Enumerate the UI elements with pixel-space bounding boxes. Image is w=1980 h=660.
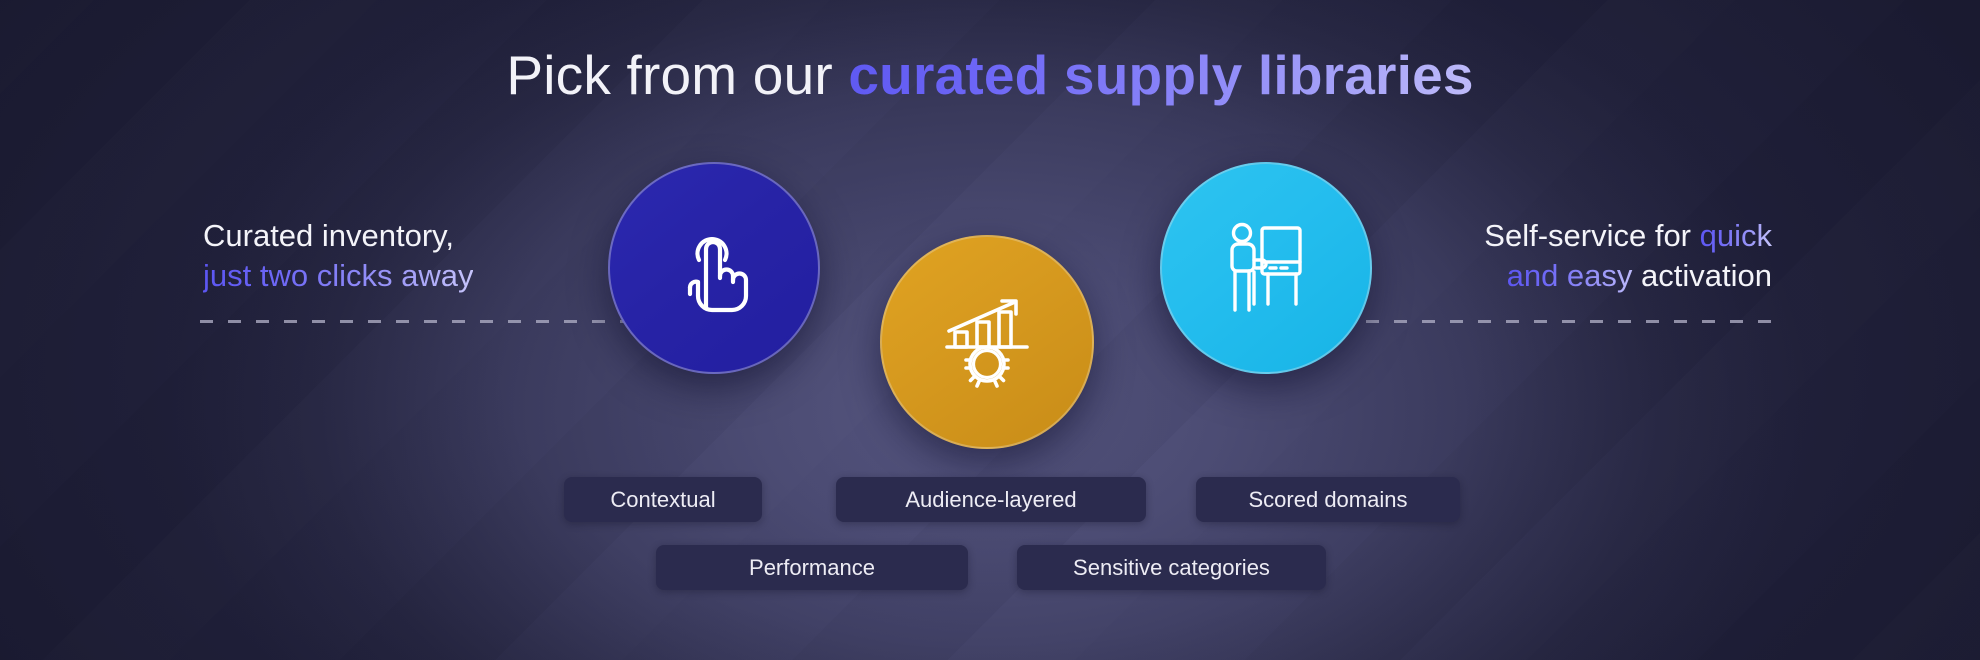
page-title: Pick from our curated supply libraries xyxy=(0,42,1980,108)
self-service-kiosk-icon xyxy=(1218,220,1314,316)
dashed-connector-right xyxy=(1310,320,1780,323)
dashed-connector-left xyxy=(200,320,670,323)
tag-chip-audience-layered[interactable]: Audience-layered xyxy=(836,477,1146,522)
caption-left-line2: just two clicks away xyxy=(203,256,473,296)
caption-right-line1-plain: Self-service for xyxy=(1484,218,1699,253)
growth-chart-gear-icon xyxy=(935,290,1039,394)
page-title-plain: Pick from our xyxy=(506,44,848,106)
tag-chip-sensitive-categories[interactable]: Sensitive categories xyxy=(1017,545,1326,590)
caption-left-line1: Curated inventory, xyxy=(203,218,454,253)
caption-right-line2-accent: and easy xyxy=(1507,258,1641,293)
caption-right: Self-service for quick and easy activati… xyxy=(1484,216,1772,296)
tag-chip-scored-domains[interactable]: Scored domains xyxy=(1196,477,1460,522)
caption-left: Curated inventory, just two clicks away xyxy=(203,216,473,296)
tag-chip-contextual[interactable]: Contextual xyxy=(564,477,762,522)
page-title-accent: curated supply libraries xyxy=(848,44,1473,106)
tap-hand-icon xyxy=(668,220,760,316)
feature-circle-self-service[interactable] xyxy=(1160,162,1372,374)
tag-chip-performance[interactable]: Performance xyxy=(656,545,968,590)
caption-right-line2: and easy activation xyxy=(1484,256,1772,296)
feature-circle-performance[interactable] xyxy=(880,235,1094,449)
caption-right-line1-accent: quick xyxy=(1700,218,1772,253)
caption-right-line2-plain: activation xyxy=(1641,258,1772,293)
feature-circle-curated-inventory[interactable] xyxy=(608,162,820,374)
